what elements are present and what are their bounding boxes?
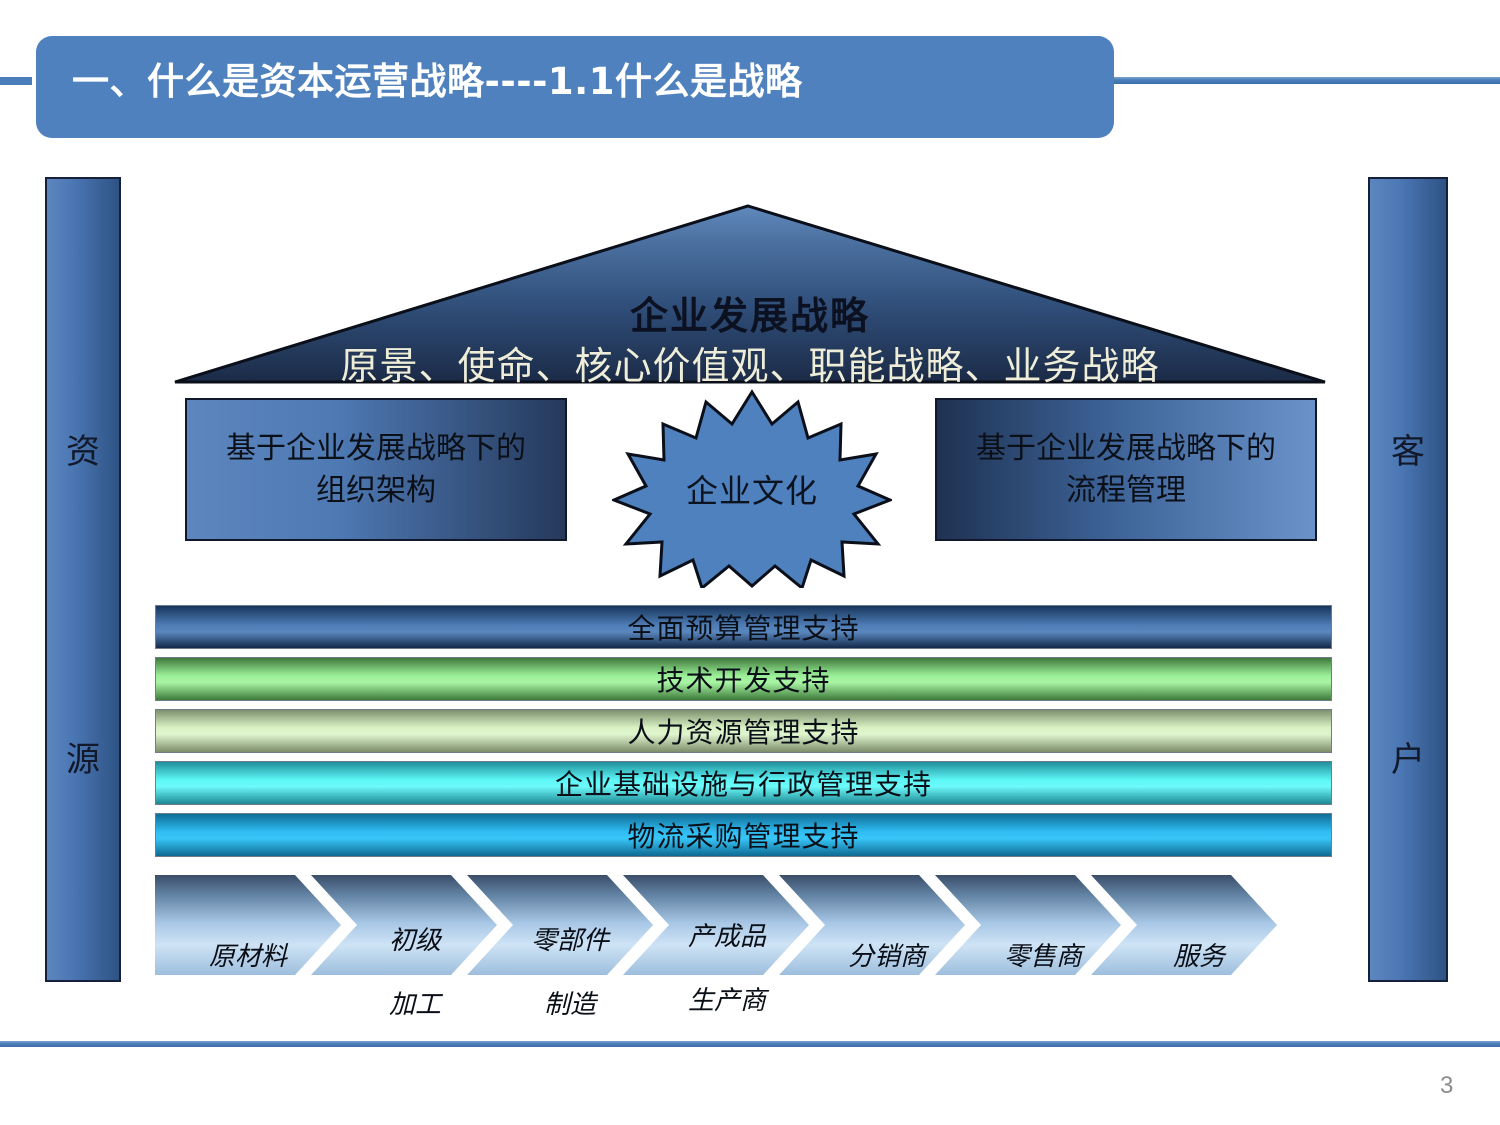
support-bar-infrastructure-label: 企业基础设施与行政管理支持 — [555, 763, 932, 803]
support-bar-technology-label: 技术开发支持 — [656, 659, 830, 699]
support-bar-hr-label: 人力资源管理支持 — [627, 711, 859, 751]
support-bars-group: 全面预算管理支持 技术开发支持 人力资源管理支持 企业基础设施与行政管理支持 物… — [155, 605, 1332, 865]
footer-rule — [0, 1041, 1500, 1047]
pillar-customers-char-1: 客 — [1370, 424, 1446, 473]
star-corporate-culture: 企业文化 — [612, 388, 892, 588]
support-bar-logistics: 物流采购管理支持 — [155, 813, 1332, 857]
page-number: 3 — [1440, 1072, 1480, 1100]
chevron-6-label: 零售商 — [975, 909, 1111, 973]
pillar-resources-char-2: 源 — [47, 732, 119, 781]
chevron-3-label: 零部件 制造 — [503, 893, 637, 1053]
chevron-1-label: 原材料 — [173, 909, 323, 973]
box-organization-structure-line-2: 组织架构 — [226, 470, 526, 512]
chevron-4-label: 产成品 生产商 — [659, 889, 795, 1049]
slide-canvas: 一、什么是资本运营战略----1.1什么是战略 资 源 客 户 企业发展战略 原… — [0, 0, 1500, 1125]
chevron-4-line-1: 产成品 — [659, 921, 795, 953]
roof-subtitle: 原景、使命、核心价值观、职能战略、业务战略 — [170, 335, 1330, 390]
chevron-2-line-1: 初级 — [350, 925, 480, 957]
chevron-2-line-2: 加工 — [350, 989, 480, 1021]
chevron-5-label: 分销商 — [819, 909, 955, 973]
chevron-3-line-1: 零部件 — [503, 925, 637, 957]
chevron-6-line-1: 零售商 — [1004, 942, 1082, 971]
roof-triangle: 企业发展战略 原景、使命、核心价值观、职能战略、业务战略 — [170, 200, 1330, 390]
pillar-customers-char-2: 户 — [1370, 732, 1446, 781]
value-chain-group: 原材料 初级 加工 零部件 制造 产成品 生产商 分销商 零售商 服务 — [155, 875, 1345, 975]
chevron-7-line-1: 服务 — [1173, 942, 1225, 971]
pillar-customers: 客 户 — [1368, 177, 1448, 982]
box-process-management: 基于企业发展战略下的 流程管理 — [935, 398, 1317, 541]
support-bar-infrastructure: 企业基础设施与行政管理支持 — [155, 761, 1332, 805]
support-bar-logistics-label: 物流采购管理支持 — [627, 815, 859, 855]
box-organization-structure-line-1: 基于企业发展战略下的 — [226, 428, 526, 470]
support-bar-hr: 人力资源管理支持 — [155, 709, 1332, 753]
support-bar-budget: 全面预算管理支持 — [155, 605, 1332, 649]
chevron-4-line-2: 生产商 — [659, 985, 795, 1017]
chevron-1-line-1: 原材料 — [209, 942, 287, 971]
header-left-dash — [0, 77, 32, 85]
header-right-rule — [1113, 77, 1500, 84]
chevron-3-line-2: 制造 — [503, 989, 637, 1021]
pillar-resources: 资 源 — [45, 177, 121, 982]
box-process-management-line-2: 流程管理 — [976, 470, 1276, 512]
box-process-management-line-1: 基于企业发展战略下的 — [976, 428, 1276, 470]
roof-title: 企业发展战略 — [170, 285, 1330, 340]
box-organization-structure: 基于企业发展战略下的 组织架构 — [185, 398, 567, 541]
support-bar-budget-label: 全面预算管理支持 — [627, 607, 859, 647]
chevron-2-label: 初级 加工 — [350, 893, 480, 1053]
support-bar-technology: 技术开发支持 — [155, 657, 1332, 701]
star-corporate-culture-label: 企业文化 — [612, 466, 892, 512]
chevron-5-line-1: 分销商 — [848, 942, 926, 971]
page-title: 一、什么是资本运营战略----1.1什么是战略 — [72, 58, 1072, 118]
chevron-7-label: 服务 — [1137, 909, 1261, 973]
pillar-resources-char-1: 资 — [47, 424, 119, 473]
